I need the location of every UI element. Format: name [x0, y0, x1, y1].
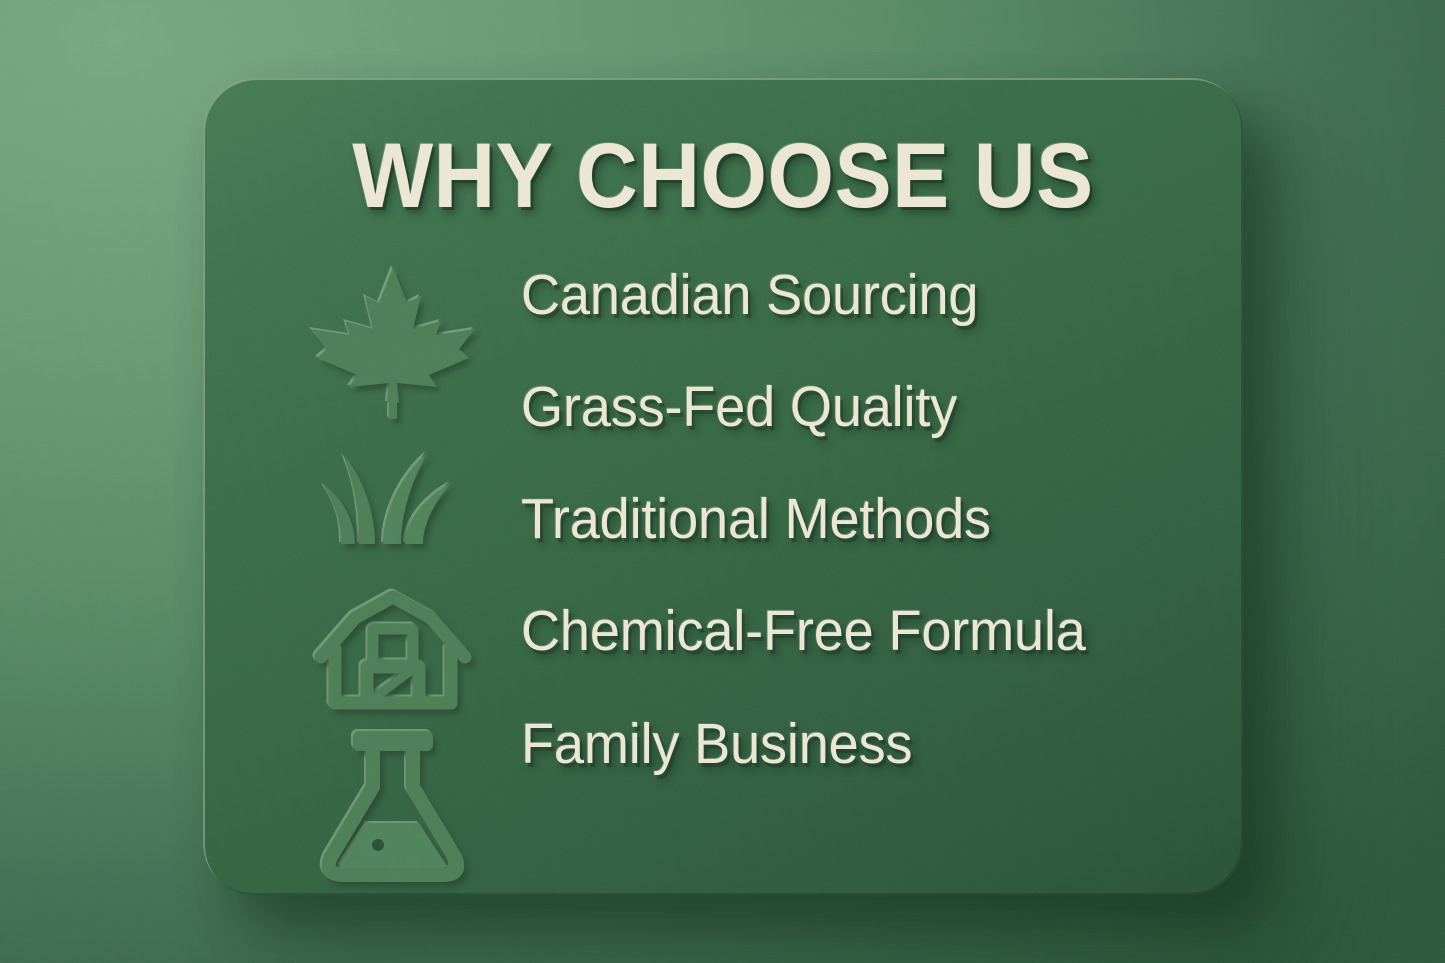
- poster-stage: WHY CHOOSE US: [0, 0, 1445, 963]
- feature-list: Canadian Sourcing Grass-Fed Quality Trad…: [521, 266, 1201, 773]
- feature-label-chemical-free-formula: Chemical-Free Formula: [521, 602, 1086, 660]
- barn-icon: [298, 571, 488, 711]
- feature-label-traditional-methods: Traditional Methods: [521, 490, 991, 548]
- flask-icon: [298, 725, 488, 885]
- list-item: Traditional Methods: [521, 490, 1201, 548]
- list-item: Chemical-Free Formula: [521, 602, 1201, 660]
- feature-label-grass-fed-quality: Grass-Fed Quality: [521, 378, 957, 436]
- feature-label-canadian-sourcing: Canadian Sourcing: [521, 266, 978, 324]
- grass-icon: [298, 443, 488, 551]
- icon-rail: [288, 263, 498, 885]
- list-item: Grass-Fed Quality: [521, 378, 1201, 436]
- why-choose-us-card: WHY CHOOSE US: [203, 78, 1243, 895]
- list-item: Canadian Sourcing: [521, 266, 1201, 324]
- maple-leaf-icon: [298, 263, 488, 421]
- page-title: WHY CHOOSE US: [239, 130, 1206, 222]
- feature-label-family-business: Family Business: [521, 715, 912, 773]
- list-item: Family Business: [521, 715, 1201, 773]
